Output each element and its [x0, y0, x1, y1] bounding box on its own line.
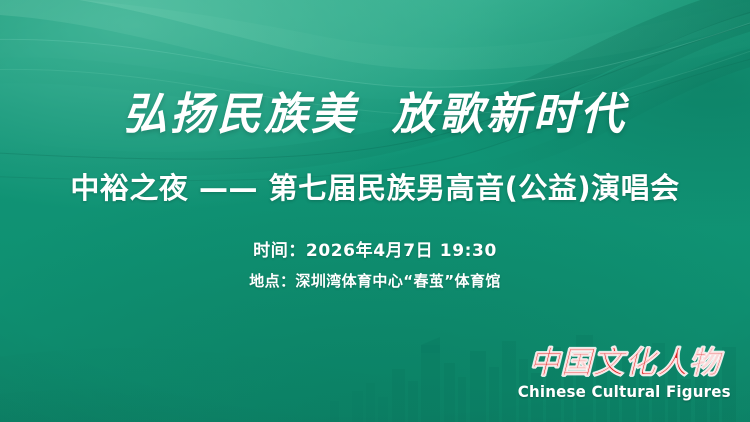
brand-logo: 中国文化人物 Chinese Cultural Figures: [511, 348, 738, 400]
event-subtitle: 中裕之夜 —— 第七届民族男高音(公益)演唱会: [0, 172, 750, 205]
headline-segment-1: 弘扬民族美: [123, 89, 358, 140]
headline-calligraphy: 弘扬民族美放歌新时代: [0, 93, 750, 137]
headline-segment-2: 放歌新时代: [392, 89, 627, 140]
brand-logo-chinese: 中国文化人物: [511, 348, 738, 379]
event-details: 时间：2026年4月7日 19:30 地点：深圳湾体育中心“春茧”体育馆: [0, 243, 750, 289]
event-time: 时间：2026年4月7日 19:30: [0, 243, 750, 260]
event-venue: 地点：深圳湾体育中心“春茧”体育馆: [0, 274, 750, 289]
event-poster: 弘扬民族美放歌新时代 中裕之夜 —— 第七届民族男高音(公益)演唱会 时间：20…: [0, 0, 750, 422]
brand-logo-english: Chinese Cultural Figures: [518, 384, 731, 400]
